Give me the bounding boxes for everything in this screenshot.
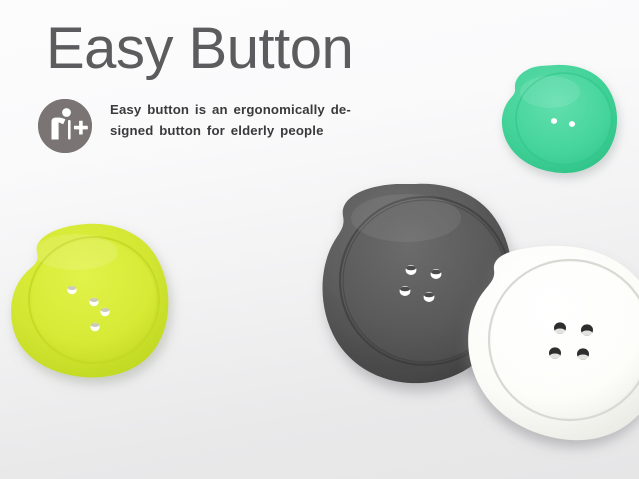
button-hole xyxy=(569,121,575,127)
tagline-line-1: Easy button is an ergonomically de- xyxy=(110,102,351,117)
teal-button xyxy=(498,62,623,182)
slide-canvas: Easy Button Easy button is an ergonomica… xyxy=(0,0,639,479)
elderly-person-with-cane-plus-icon xyxy=(38,99,92,153)
button-hole xyxy=(551,118,557,124)
tagline-text: Easy button is an ergonomically de- sign… xyxy=(110,100,402,141)
white-button xyxy=(452,244,639,444)
page-title: Easy Button xyxy=(46,14,353,84)
tagline-line-2: signed button for elderly people xyxy=(110,123,324,138)
lime-button xyxy=(6,220,178,385)
